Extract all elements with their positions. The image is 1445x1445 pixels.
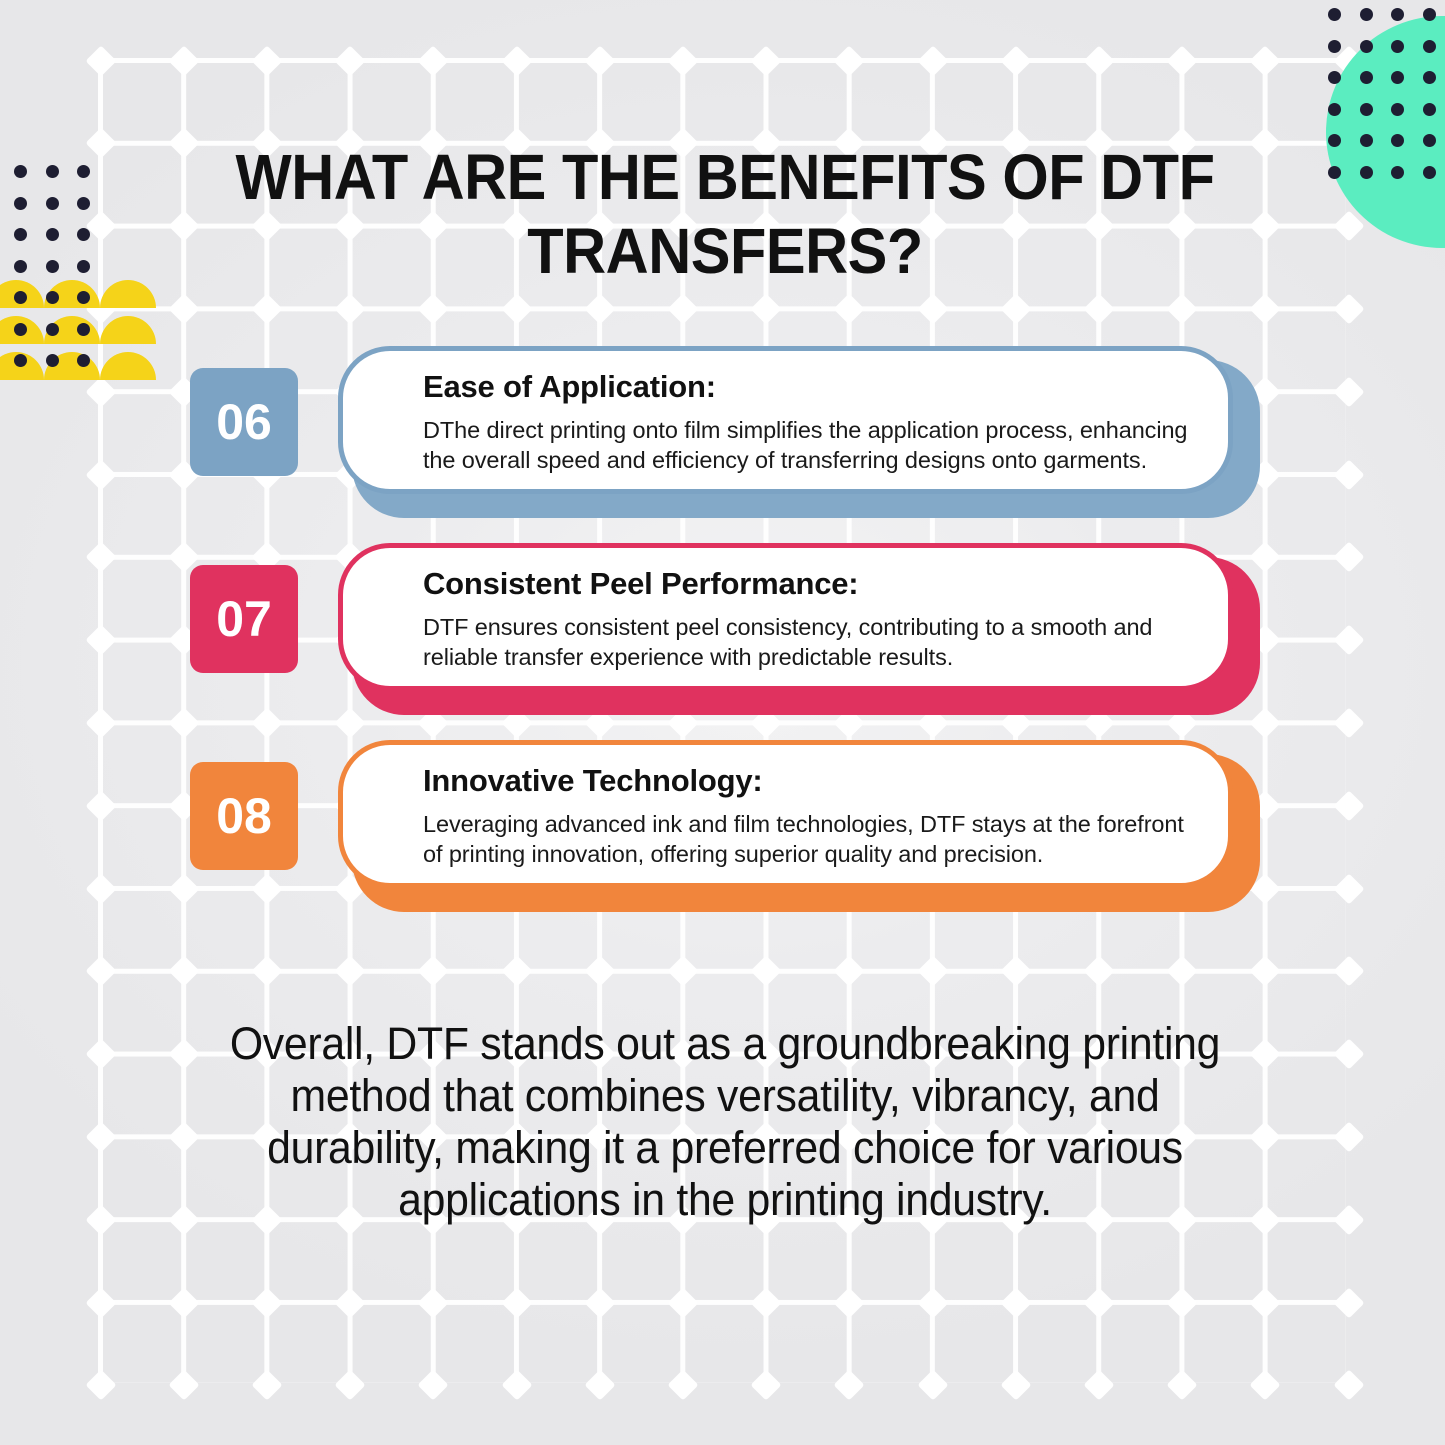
decorative-dot [1423,40,1436,53]
card-number-badge: 08 [190,762,298,870]
card-body: Consistent Peel Performance:DTF ensures … [338,543,1233,691]
decorative-dot [1360,134,1373,147]
decorative-dot [77,228,90,241]
yellow-arc [100,316,156,344]
decorative-dot [1328,71,1341,84]
decorative-dot [1328,166,1341,179]
grid-diamond [168,1287,199,1318]
decorative-dot [1391,71,1404,84]
infographic-poster: WHAT ARE THE BENEFITS OF DTF TRANSFERS? … [0,0,1445,1445]
decorative-dot [1423,134,1436,147]
grid-diamond [335,956,366,987]
decorative-dot [14,228,27,241]
grid-diamond [584,293,615,324]
yellow-arc [100,352,156,380]
grid-diamond [418,956,449,987]
decorative-dot [77,291,90,304]
decorative-dot [77,197,90,210]
grid-diamond [917,1287,948,1318]
decorative-dot [77,165,90,178]
yellow-arc [100,280,156,308]
decorative-dot [14,165,27,178]
decorative-dot [1328,103,1341,116]
decorative-dot [46,291,59,304]
decorative-dot [77,323,90,336]
grid-diamond [168,1039,199,1070]
grid-diamond [917,293,948,324]
grid-diamond [751,1287,782,1318]
grid-diamond [751,956,782,987]
page-title: WHAT ARE THE BENEFITS OF DTF TRANSFERS? [209,140,1241,288]
grid-diamond [1250,293,1281,324]
card-number-badge: 07 [190,565,298,673]
grid-diamond [834,956,865,987]
grid-diamond [418,1287,449,1318]
decorative-dot [1391,134,1404,147]
grid-diamond [335,1287,366,1318]
grid-diamond [1250,128,1281,159]
card-body: Innovative Technology:Leveraging advance… [338,740,1233,888]
decorative-dot [46,165,59,178]
decorative-dot [77,260,90,273]
decorative-dot [1391,40,1404,53]
decorative-dot [1328,8,1341,21]
decorative-dot [1360,103,1373,116]
decorative-dot [46,354,59,367]
grid-diamond [501,293,532,324]
grid-diamond [834,1287,865,1318]
grid-diamond [1250,1204,1281,1235]
grid-diamond [667,293,698,324]
decorative-dot [14,291,27,304]
card-description: DThe direct printing onto film simplifie… [423,415,1194,475]
decorative-dot [1391,103,1404,116]
grid-diamond [667,1287,698,1318]
card-title: Innovative Technology: [423,763,1194,799]
grid-diamond [751,293,782,324]
grid-diamond [1083,293,1114,324]
decorative-dot [1423,103,1436,116]
decorative-dot [14,197,27,210]
grid-diamond [1083,1287,1114,1318]
card-description: Leveraging advanced ink and film technol… [423,809,1194,869]
grid-diamond [1083,956,1114,987]
grid-diamond [1250,1287,1281,1318]
grid-diamond [1250,956,1281,987]
grid-diamond [1167,956,1198,987]
decorative-dot [1328,40,1341,53]
grid-diamond [667,956,698,987]
grid-diamond [335,293,366,324]
decorative-dot [1360,166,1373,179]
grid-diamond [168,128,199,159]
benefit-card-08: Innovative Technology:Leveraging advance… [190,732,1265,912]
decorative-dot [1360,8,1373,21]
decorative-dot [46,197,59,210]
decorative-dot [46,323,59,336]
decorative-dot [46,228,59,241]
grid-diamond [1000,1287,1031,1318]
card-title: Ease of Application: [423,369,1194,405]
grid-diamond [1250,1039,1281,1070]
grid-diamond [584,956,615,987]
decorative-dot [14,354,27,367]
grid-diamond [418,293,449,324]
card-body: Ease of Application:DThe direct printing… [338,346,1233,494]
decorative-dot [14,323,27,336]
footer-paragraph: Overall, DTF stands out as a groundbreak… [203,1018,1248,1226]
grid-diamond [168,293,199,324]
grid-diamond [917,956,948,987]
grid-diamond [1167,1287,1198,1318]
grid-diamond [251,956,282,987]
grid-diamond [1250,1121,1281,1152]
grid-diamond [251,1287,282,1318]
grid-diamond [168,211,199,242]
grid-diamond [168,956,199,987]
grid-diamond [501,956,532,987]
decorative-dot [1360,40,1373,53]
grid-diamond [584,1287,615,1318]
decorative-dot [1423,8,1436,21]
grid-diamond [168,1121,199,1152]
grid-diamond [251,293,282,324]
grid-diamond [1000,956,1031,987]
decorative-dot [1423,166,1436,179]
decorative-dot [1423,71,1436,84]
benefit-card-06: Ease of Application:DThe direct printing… [190,338,1265,518]
card-number-badge: 06 [190,368,298,476]
card-title: Consistent Peel Performance: [423,566,1194,602]
benefit-card-07: Consistent Peel Performance:DTF ensures … [190,535,1265,715]
grid-diamond [1000,293,1031,324]
grid-diamond [1250,211,1281,242]
decorative-dot [1328,134,1341,147]
decorative-dot [46,260,59,273]
grid-diamond [1167,293,1198,324]
decorative-dot [14,260,27,273]
grid-diamond [168,1204,199,1235]
decorative-dot [1391,8,1404,21]
decorative-dot [1391,166,1404,179]
card-description: DTF ensures consistent peel consistency,… [423,612,1194,672]
decorative-dot [1360,71,1373,84]
decorative-dot [77,354,90,367]
grid-diamond [834,293,865,324]
grid-diamond [501,1287,532,1318]
